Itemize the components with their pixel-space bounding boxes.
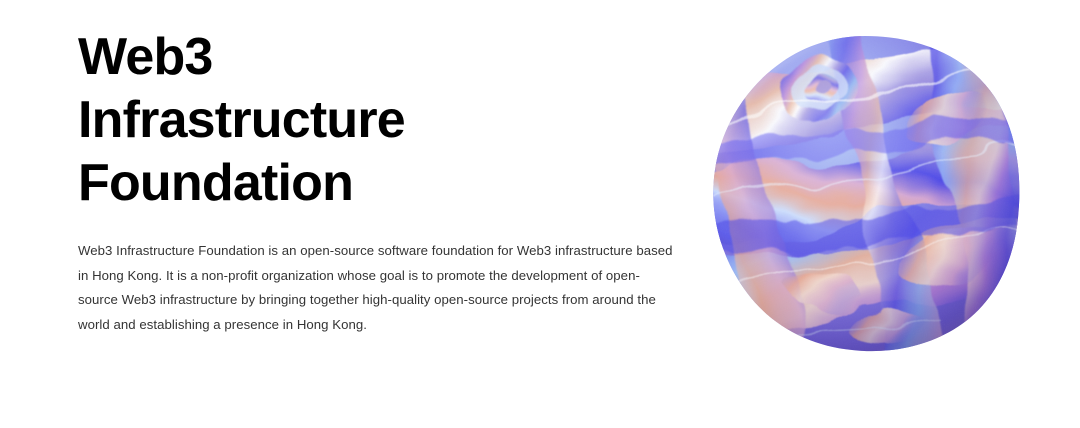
- page-title: Web3 Infrastructure Foundation: [78, 26, 678, 215]
- iridescent-sphere-graphic: [700, 28, 1030, 358]
- hero-section: Web3 Infrastructure Foundation Web3 Infr…: [0, 0, 1080, 428]
- hero-description: Web3 Infrastructure Foundation is an ope…: [78, 215, 674, 337]
- sphere-body: [700, 28, 1030, 358]
- hero-text-column: Web3 Infrastructure Foundation Web3 Infr…: [78, 26, 678, 337]
